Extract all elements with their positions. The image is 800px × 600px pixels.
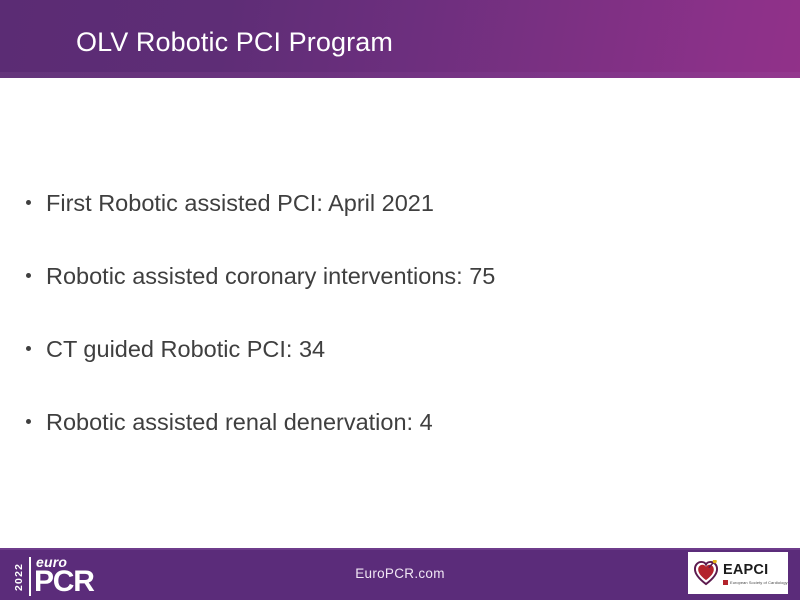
footer-website-label: EuroPCR.com [0, 566, 800, 581]
slide-content: First Robotic assisted PCI: April 2021 R… [0, 78, 800, 548]
list-item-label: Robotic assisted coronary interventions:… [46, 263, 495, 289]
bullet-dot-icon [26, 200, 31, 205]
eapci-subtitle-label: European Society of Cardiology [730, 580, 788, 585]
list-item-label: Robotic assisted renal denervation: 4 [46, 409, 433, 435]
eapci-logo: EAPCI European Society of Cardiology [688, 552, 788, 594]
page-title: OLV Robotic PCI Program [76, 26, 393, 58]
bullet-dot-icon [26, 419, 31, 424]
list-item: First Robotic assisted PCI: April 2021 [24, 188, 764, 218]
slide: OLV Robotic PCI Program First Robotic as… [0, 0, 800, 600]
footer-divider [0, 548, 800, 550]
bullet-dot-icon [26, 346, 31, 351]
eapci-name-label: EAPCI [723, 562, 788, 578]
list-item: Robotic assisted renal denervation: 4 [24, 407, 764, 437]
esc-mark-icon [723, 580, 728, 585]
list-item: Robotic assisted coronary interventions:… [24, 261, 764, 291]
bullet-dot-icon [26, 273, 31, 278]
slide-header: OLV Robotic PCI Program [0, 0, 800, 78]
bullet-list: First Robotic assisted PCI: April 2021 R… [24, 188, 764, 437]
list-item-label: First Robotic assisted PCI: April 2021 [46, 190, 434, 216]
heart-icon [693, 560, 719, 586]
eapci-text-block: EAPCI European Society of Cardiology [723, 562, 788, 585]
list-item-label: CT guided Robotic PCI: 34 [46, 336, 325, 362]
slide-footer: 2022 euro PCR EuroPCR.com [0, 548, 800, 600]
list-item: CT guided Robotic PCI: 34 [24, 334, 764, 364]
eapci-subtitle-row: European Society of Cardiology [723, 580, 788, 585]
